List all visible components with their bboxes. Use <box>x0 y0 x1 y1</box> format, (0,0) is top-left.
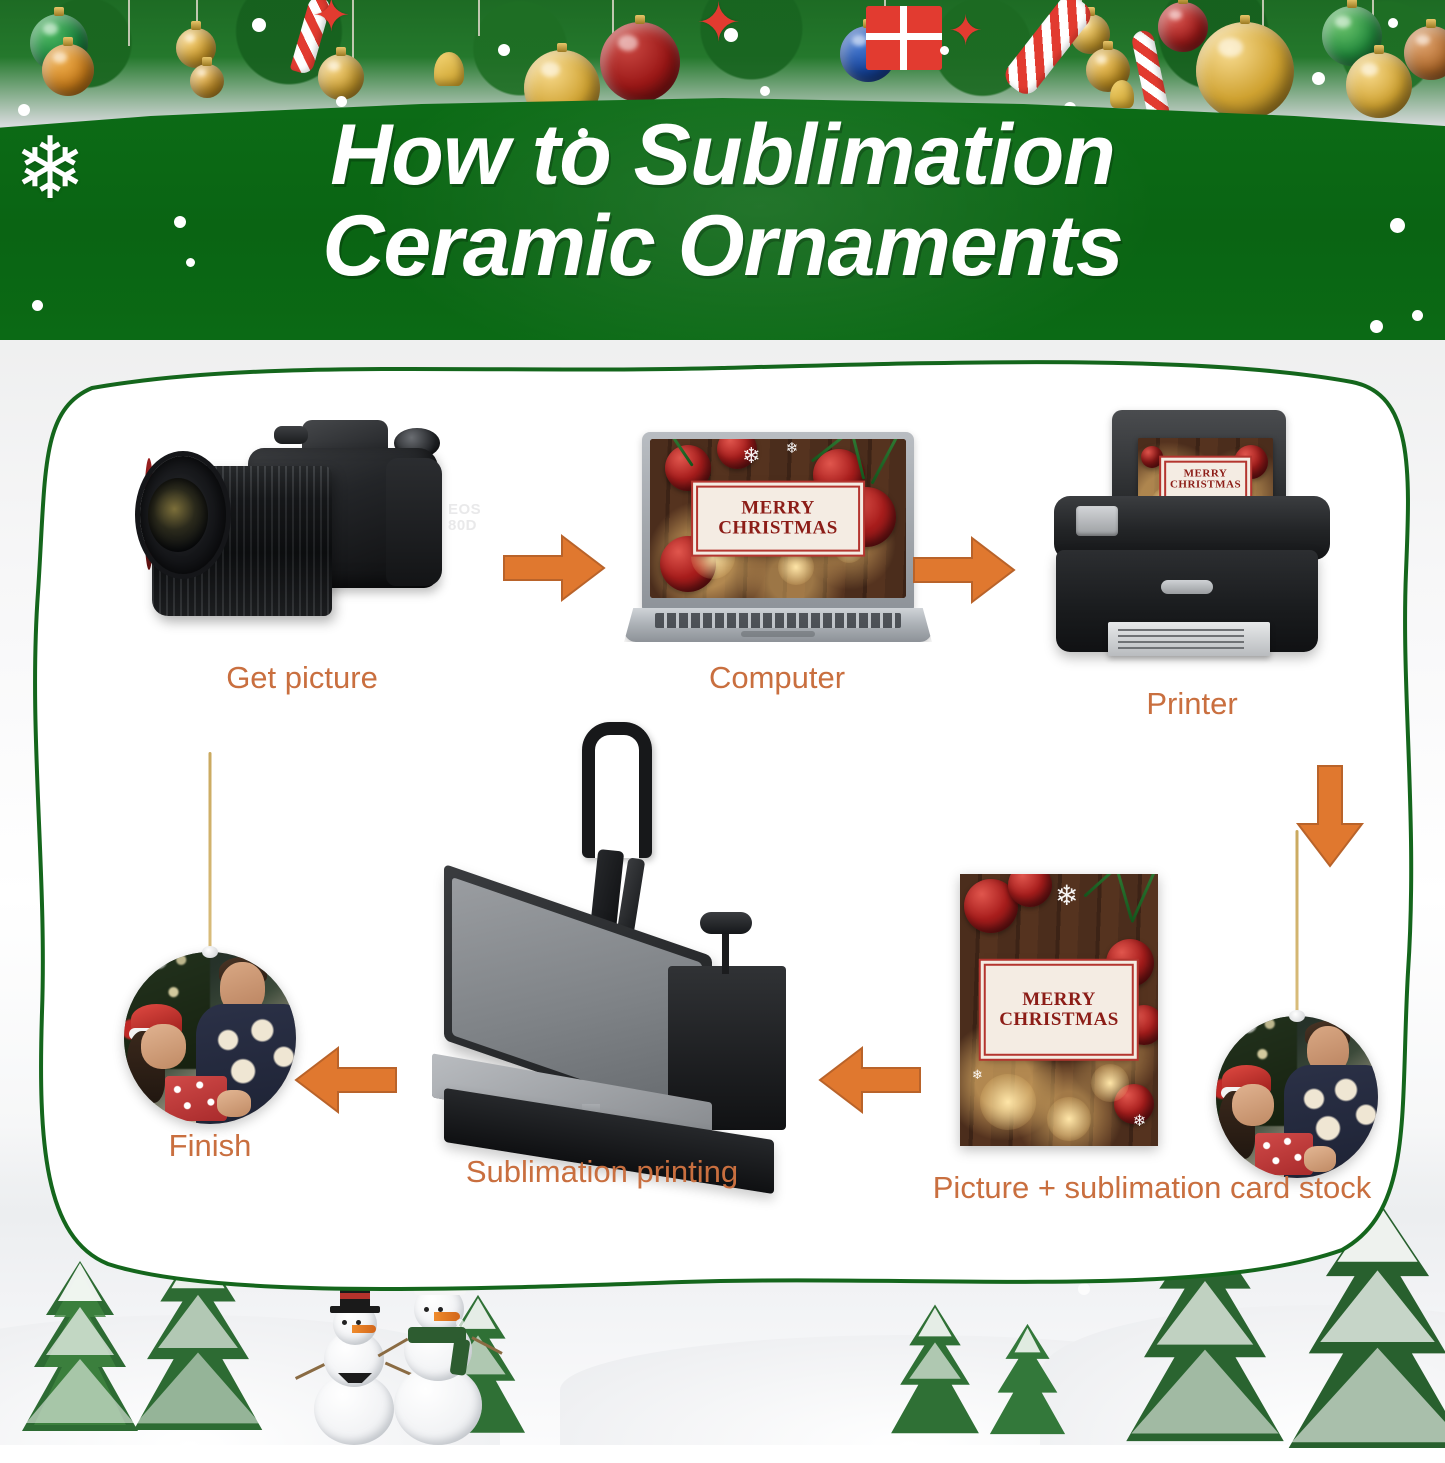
printer-image: MERRY CHRISTMAS <box>1042 410 1342 666</box>
ornament-ball-icon <box>190 64 224 98</box>
ornament-disc <box>1216 1016 1378 1178</box>
snow-particle <box>456 1319 464 1327</box>
bell-icon <box>434 52 464 86</box>
star-icon: ✦ <box>696 0 741 50</box>
ornament-disc <box>124 952 296 1124</box>
step-label-computer: Computer <box>612 660 942 696</box>
page-title: How to Sublimation Ceramic Ornaments <box>0 110 1445 292</box>
star-icon: ✦ <box>948 10 983 52</box>
laptop-screen-text-line1: MERRY <box>741 498 815 519</box>
snow-particle <box>174 216 186 228</box>
dslr-camera-image: EOS 80D <box>152 422 452 632</box>
ornament-ball-icon <box>1196 22 1294 120</box>
star-icon: ✦ <box>312 0 351 38</box>
title-line-2: Ceramic Ornaments <box>0 201 1445 292</box>
printer-print-text-line1: MERRY <box>1184 467 1228 479</box>
pine-tree-icon <box>980 1320 1075 1445</box>
step-label-get-picture: Get picture <box>132 660 472 696</box>
step-label-card-stock: Picture + sublimation card stock <box>902 1170 1402 1206</box>
ornament-ball-icon <box>1404 26 1445 80</box>
snow-particle <box>1412 310 1423 321</box>
title-line-1: How to Sublimation <box>330 107 1115 203</box>
step-finish: Finish <box>80 752 340 1172</box>
step-printer: MERRY CHRISTMAS Printer <box>1032 380 1352 720</box>
step-label-printer: Printer <box>1032 686 1352 722</box>
laptop-image: ❄ ❄ MERRY CHRISTMAS <box>624 432 932 644</box>
ornament-ball-icon <box>1346 52 1412 118</box>
ornament-ball-icon <box>318 54 364 100</box>
process-panel: EOS 80D Get picture <box>22 352 1422 1312</box>
printed-card-image: ❄ ❄ ❄ MERRY CHRISTMAS <box>960 874 1158 1146</box>
blank-ceramic-ornament <box>1202 830 1392 1160</box>
pine-tree-icon <box>880 1300 990 1445</box>
infographic-page: ✦ ✦ ✦ ❄ How to Sublimation Ceramic Ornam… <box>0 0 1445 1445</box>
step-sublimation-printing: Sublimation printing <box>412 722 792 1202</box>
laptop-screen: ❄ ❄ MERRY CHRISTMAS <box>650 439 906 598</box>
camera-model-text: EOS 80D <box>448 502 481 534</box>
arrow-camera-to-computer <box>502 530 606 606</box>
laptop-screen-text-line2: CHRISTMAS <box>718 517 838 538</box>
arrow-cardstock-to-press <box>818 1042 922 1118</box>
snow-particle <box>1370 320 1383 333</box>
card-text-line1: MERRY <box>1022 989 1096 1010</box>
snow-particle <box>1390 218 1405 233</box>
step-computer: ❄ ❄ MERRY CHRISTMAS <box>612 412 942 712</box>
step-label-finish: Finish <box>80 1128 340 1164</box>
snow-particle <box>32 300 43 311</box>
ornament-ball-icon <box>42 44 94 96</box>
heat-press-image <box>432 722 792 1172</box>
card-text-line2: CHRISTMAS <box>999 1009 1119 1030</box>
finished-ceramic-ornament <box>110 752 310 1112</box>
ornament-ball-icon <box>600 22 680 102</box>
step-get-picture: EOS 80D Get picture <box>132 412 472 712</box>
step-label-sublimation-printing: Sublimation printing <box>412 1154 792 1190</box>
printer-print-text-line2: CHRISTMAS <box>1170 479 1241 491</box>
snow-particle <box>186 258 195 267</box>
step-card-stock: ❄ ❄ ❄ MERRY CHRISTMAS <box>902 852 1402 1212</box>
gift-box-icon <box>866 6 942 70</box>
bell-icon <box>1110 80 1134 108</box>
snow-particle <box>578 128 588 138</box>
ornament-ball-icon <box>1158 2 1208 52</box>
arrow-computer-to-printer <box>912 532 1016 608</box>
